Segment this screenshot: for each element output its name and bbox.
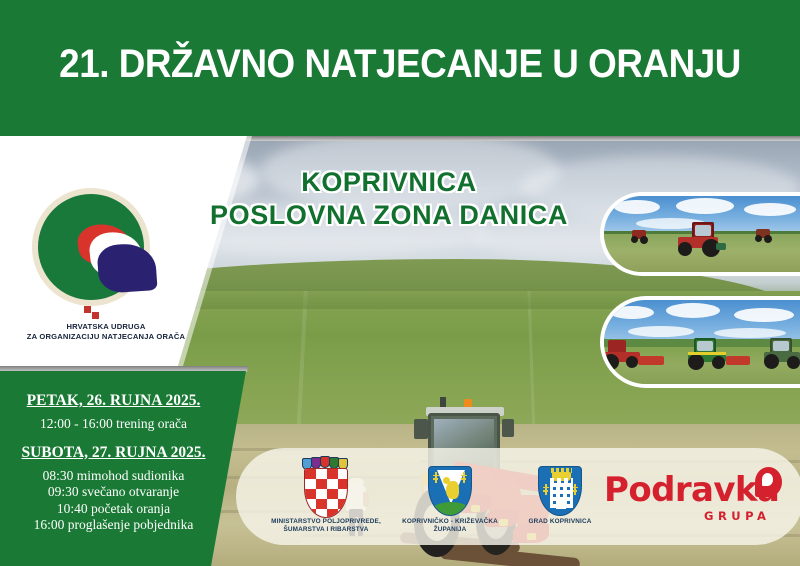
implement-shape [638, 356, 664, 365]
schedule-day1-heading: PETAK, 26. RUJNA 2025. [6, 392, 221, 410]
cab-glass [695, 225, 711, 236]
headline-line-2: POSLOVNA ZONA DANICA [174, 199, 604, 232]
wheel-rim-accent [688, 352, 726, 355]
cloud-shape [734, 308, 794, 322]
implement-shape [716, 243, 726, 250]
cab-glass [697, 341, 713, 351]
koprivnica-krizevci-county-arms-icon [428, 466, 472, 516]
schedule-day2-item: 16:00 proglašenje pobjednika [6, 517, 221, 534]
tower-gate [556, 497, 566, 509]
checker-cell [327, 469, 338, 479]
podravka-subtitle: GRUPA [704, 509, 770, 523]
checker-cell [316, 499, 327, 509]
association-logo: HRVATSKA UDRUGA ZA ORGANIZACIJU NATJECAN… [18, 188, 168, 338]
title-band: 21. DRŽAVNO NATJECANJE U ORANJU [0, 0, 800, 136]
tower-window [560, 487, 563, 490]
cloud-shape [744, 203, 796, 216]
schedule-day1-item: 12:00 - 16:00 trening orača [6, 416, 221, 433]
association-caption-line2: ZA ORGANIZACIJU NATJECANJA ORAČA [6, 332, 206, 342]
poster: 21. DRŽAVNO NATJECANJE U ORANJU [0, 0, 800, 566]
sponsor-crest-city: GRAD KOPRIVNICA [532, 452, 588, 518]
sponsor-caption-line2: ŠUMARSTVA I RIBARSTVA [256, 526, 396, 534]
tower-window [567, 494, 570, 497]
cloud-shape [610, 306, 654, 319]
rooster-icon [446, 481, 459, 499]
wheel-shape [764, 354, 779, 369]
tractor-graphic [762, 338, 800, 370]
croatian-coat-of-arms-icon [304, 468, 348, 518]
headline-line-1: KOPRIVNICA [174, 166, 604, 199]
podravka-heart-icon [755, 467, 782, 497]
schedule-day2-item: 09:30 svečano otvaranje [6, 484, 221, 501]
wheel-shape [787, 356, 800, 369]
implement-shape [726, 356, 750, 365]
schedule-day2-item: 10:40 početak oranja [6, 501, 221, 518]
tractor-graphic [602, 340, 658, 370]
schedule-day2-heading: SUBOTA, 27. RUJNA 2025. [6, 444, 221, 462]
field-stripe [296, 291, 308, 436]
inset-photo-tractor-lineup [600, 296, 800, 388]
sponsor-crest-ministry: MINISTARSTVO POLJOPRIVREDE, ŠUMARSTVA I … [298, 452, 354, 518]
field-stripe [527, 291, 535, 436]
checker-cell [327, 509, 338, 518]
checker-cell [316, 479, 327, 489]
distant-tractor [630, 230, 650, 244]
checker-cell [305, 509, 316, 518]
logo-accent-dot [92, 312, 99, 319]
tractor-graphic [686, 338, 746, 370]
cloud-shape [628, 326, 694, 337]
wheel-shape [626, 356, 638, 368]
checker-cell [338, 499, 348, 509]
podravka-logo: Podravka GRUPA [604, 470, 794, 528]
mirror-right [502, 419, 514, 437]
wheel-shape [631, 236, 638, 243]
mirror-left [414, 419, 428, 439]
wheel-shape [712, 356, 725, 369]
checker-cell [338, 479, 348, 489]
wheel-shape [603, 354, 619, 370]
checker-cell [305, 469, 316, 479]
city-of-koprivnica-arms-icon [538, 466, 582, 516]
green-hill-shape [429, 502, 472, 515]
schedule-block: PETAK, 26. RUJNA 2025. 12:00 - 16:00 tre… [6, 392, 221, 534]
inset-photo-red-tractor [600, 192, 800, 276]
cloud-shape [614, 200, 660, 214]
cloud-shape [666, 303, 720, 318]
tower-window [553, 487, 556, 490]
tractor-graphic [676, 222, 724, 258]
plough-emblem-icon [38, 194, 144, 300]
wheel-shape [755, 235, 762, 242]
schedule-day2-item: 08:30 mimohod sudionika [6, 468, 221, 485]
wheel-shape [640, 236, 648, 244]
cab-glass [773, 341, 789, 351]
tower-window [567, 487, 570, 490]
wheel-shape [678, 242, 692, 256]
cloud-shape [676, 198, 734, 214]
podravka-wordmark: Podravka [604, 470, 779, 510]
cross-icon [460, 472, 467, 483]
cloud-shape [714, 328, 786, 338]
tower-window [553, 494, 556, 497]
sponsor-crest-county: KOPRIVNIČKO - KRIŽEVAČKA ŽUPANIJA [422, 452, 478, 518]
tower-window [567, 501, 570, 504]
logo-accent-dot [84, 306, 91, 313]
checker-cell [327, 489, 338, 499]
distant-tractor [754, 229, 774, 243]
sponsor-caption-line2: ŽUPANIJA [380, 526, 520, 534]
cross-icon [432, 472, 439, 483]
schedule-spacer [6, 433, 221, 444]
wheel-shape [688, 354, 704, 370]
page-title: 21. DRŽAVNO NATJECANJE U ORANJU [32, 42, 768, 87]
sponsor-caption: MINISTARSTVO POLJOPRIVREDE, ŠUMARSTVA I … [256, 518, 396, 535]
association-caption-line1: HRVATSKA UDRUGA [6, 322, 206, 332]
checker-cell [305, 489, 316, 499]
cross-icon [542, 484, 549, 495]
association-caption: HRVATSKA UDRUGA ZA ORGANIZACIJU NATJECAN… [6, 322, 206, 342]
wheel-shape [764, 235, 772, 243]
headline: KOPRIVNICA POSLOVNA ZONA DANICA [174, 166, 604, 232]
